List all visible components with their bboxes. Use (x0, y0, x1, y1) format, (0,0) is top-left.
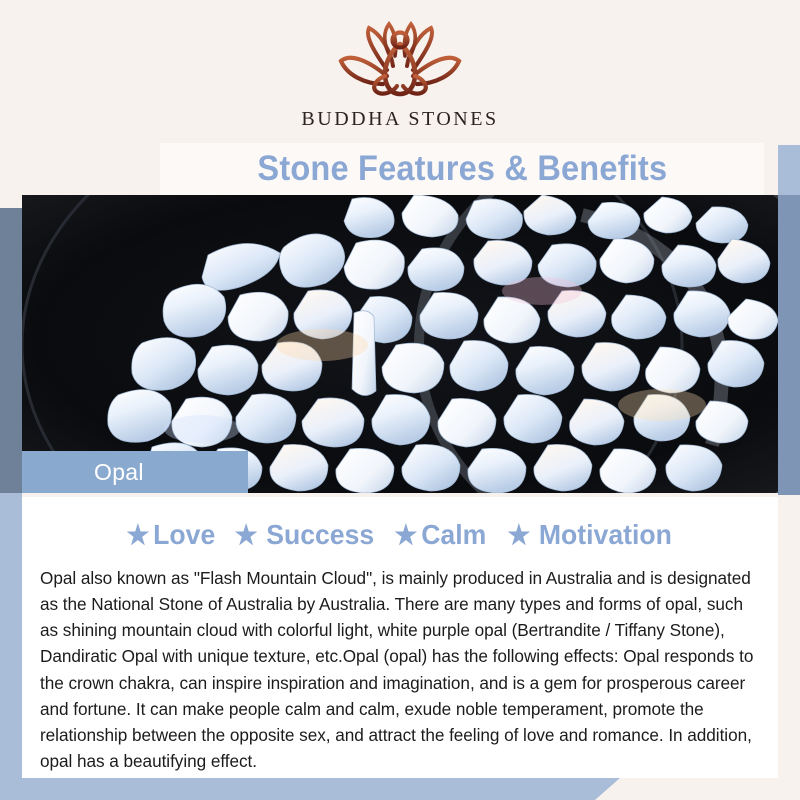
benefits-list: ★ Love ★ Success ★ Calm ★ Motivation (30, 511, 770, 559)
promo-card: BUDDHA STONES Stone Features & Benefits (0, 0, 800, 800)
decor-right-blue-bar-lower (778, 195, 800, 495)
benefit-label: Success (267, 519, 375, 551)
benefit-label: Calm (421, 519, 486, 551)
star-icon: ★ (507, 522, 530, 549)
star-icon: ★ (395, 522, 418, 549)
stone-name-banner: Opal (22, 451, 248, 493)
lotus-meditation-icon (325, 14, 475, 106)
benefit-item-calm: ★ Calm (395, 519, 487, 551)
benefit-label: Love (153, 519, 215, 551)
title-banner: Stone Features & Benefits (160, 143, 764, 195)
brand-name: BUDDHA STONES (301, 108, 498, 131)
benefit-item-success: ★ Success (235, 519, 375, 551)
stone-name: Opal (94, 459, 144, 486)
decor-left-blue-bar-upper (0, 208, 22, 493)
star-icon: ★ (235, 522, 258, 549)
stone-photo (22, 195, 778, 493)
benefit-item-love: ★ Love (126, 519, 215, 551)
star-icon: ★ (126, 522, 149, 549)
page-title: Stone Features & Benefits (257, 149, 667, 189)
description-card: ★ Love ★ Success ★ Calm ★ Motivation Opa… (22, 497, 778, 778)
description-text: Opal also known as "Flash Mountain Cloud… (40, 565, 762, 774)
decor-bottom-blue-bar (0, 778, 620, 800)
brand-header: BUDDHA STONES (0, 0, 800, 145)
benefit-label: Motivation (539, 519, 672, 551)
benefit-item-motivation: ★ Motivation (507, 519, 672, 551)
